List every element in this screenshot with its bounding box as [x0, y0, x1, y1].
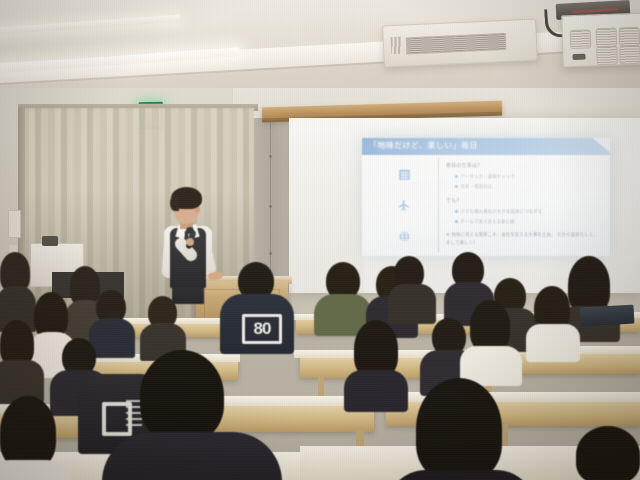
airplane-icon: [397, 199, 411, 217]
slide-bullet: チームで支え合える安心感: [455, 219, 602, 225]
slide-icon-column: [382, 168, 426, 248]
classroom-photo: 「地味だけど、楽しい」毎日: [0, 0, 640, 480]
torso: [344, 370, 408, 412]
vent-grille: [406, 33, 507, 55]
slide-divider: [438, 158, 439, 252]
slide-heading: 普段の仕事は?: [446, 162, 602, 169]
slide-bullet: 小さな積み重ねが大きな成果につながる: [455, 209, 602, 215]
slide-note: ※ 地味に見える業務こそ、会社を支える大事な土台。 だから自分らしく、そして楽し…: [446, 232, 602, 249]
presenter: [150, 182, 242, 302]
desk-top: [380, 392, 640, 402]
projector-vent: [596, 28, 618, 48]
slide-bullet: 来客・電話対応: [455, 184, 602, 190]
projector-vent: [596, 46, 618, 66]
wall-fixing-dot: [269, 155, 272, 158]
wall-fixing-dot: [269, 205, 272, 208]
slide-heading-2: でも?: [446, 197, 602, 204]
projector-vent: [570, 29, 592, 49]
calendar-icon: [398, 168, 411, 186]
vent-slat: [391, 37, 402, 54]
projector-lens-icon: [572, 54, 585, 60]
hair: [470, 300, 510, 352]
projector-vent: [619, 45, 640, 65]
laptop-icon: [580, 305, 635, 327]
presenter-hand-on-podium: [208, 271, 224, 281]
hair: [416, 378, 502, 480]
projected-slide: 「地味だけど、楽しい」毎日: [362, 138, 610, 256]
slide-body: 普段の仕事は? データ入力・書類チェック 来客・電話対応 でも? 小さな積み重ね…: [446, 162, 602, 249]
hoodie-number-graphic: 80: [242, 314, 282, 344]
globe-icon: [398, 230, 411, 248]
projector-vent: [619, 27, 640, 47]
torso: [388, 284, 436, 324]
torso: [102, 432, 282, 480]
torso: [526, 324, 580, 362]
hair: [0, 396, 56, 468]
projector-icon: [561, 13, 640, 68]
equipment-box: [42, 236, 58, 246]
torso: [89, 318, 135, 358]
slide-bullet: データ入力・書類チェック: [455, 174, 602, 180]
head: [140, 350, 224, 442]
presenter-hand: [186, 238, 194, 246]
microphone-head: [186, 227, 194, 234]
wall-notice: [8, 210, 21, 238]
slide-title: 「地味だけど、楽しい」毎日: [369, 140, 478, 151]
wall-fixing-dot: [269, 252, 272, 255]
air-conditioner-vent-icon: [382, 19, 538, 68]
hair: [576, 426, 640, 480]
presenter-hair-side: [170, 195, 179, 211]
